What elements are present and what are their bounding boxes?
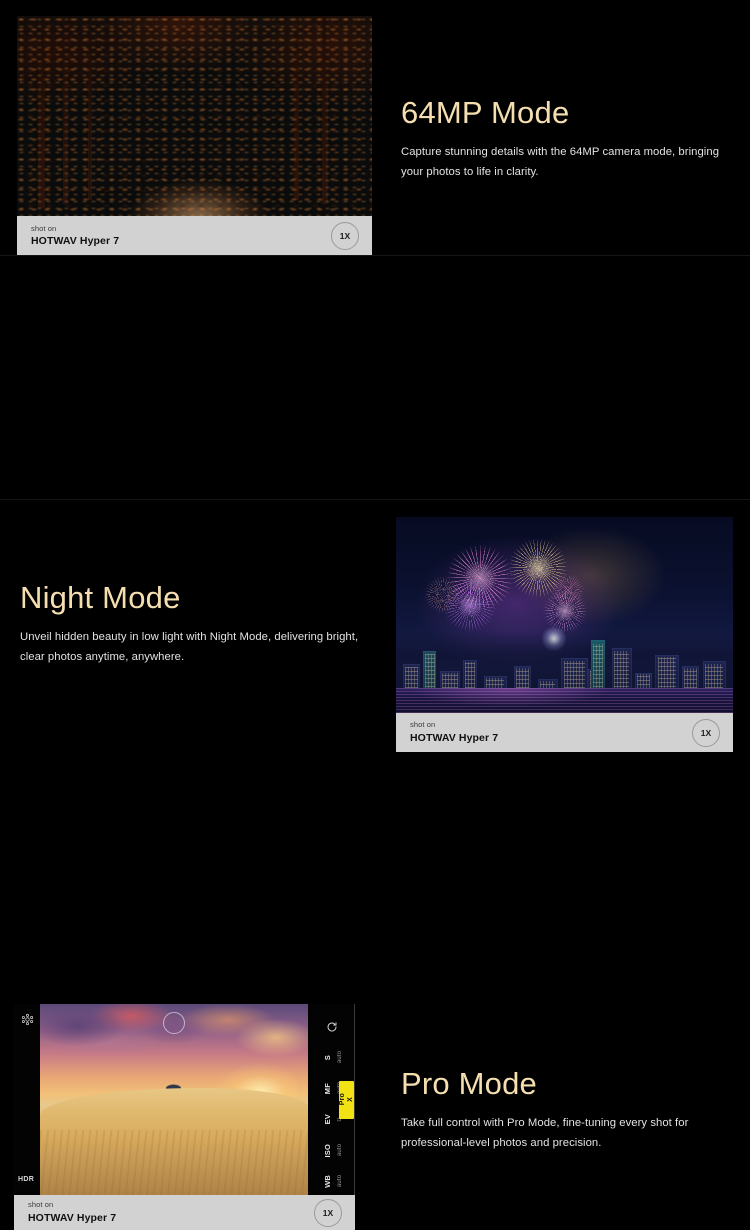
pro-control-label: ISO bbox=[323, 1144, 332, 1158]
pro-control-label: WB bbox=[323, 1175, 332, 1188]
photo-card-pro: HDR S auto bbox=[14, 1004, 355, 1230]
pro-control-value: auto bbox=[337, 1144, 343, 1156]
camera-viewfinder bbox=[40, 1004, 308, 1195]
caption-text-group: shot on HOTWAV Hyper 7 bbox=[28, 1201, 116, 1223]
caption-text-group: shot on HOTWAV Hyper 7 bbox=[31, 225, 119, 247]
section-pro: HDR S auto bbox=[0, 500, 750, 750]
reset-refresh-icon[interactable] bbox=[326, 1020, 338, 1032]
focus-ring-indicator[interactable] bbox=[163, 1012, 185, 1034]
zoom-level-badge: 1X bbox=[314, 1199, 342, 1227]
pro-control-value: auto bbox=[337, 1175, 343, 1187]
photo-card-64mp: shot on HOTWAV Hyper 7 1X bbox=[17, 16, 372, 256]
photo-desert-sunset: HDR S auto bbox=[14, 1004, 355, 1195]
section-night: Night Mode Unveil hidden beauty in low l… bbox=[0, 256, 750, 500]
pro-control-shutter[interactable]: S auto bbox=[308, 1042, 355, 1073]
caption-shot-on-label: shot on bbox=[28, 1201, 116, 1210]
pro-mode-badge[interactable]: Pro X bbox=[339, 1081, 354, 1119]
mode-description-64mp: Capture stunning details with the 64MP c… bbox=[401, 143, 731, 182]
pro-control-iso[interactable]: ISO auto bbox=[308, 1135, 355, 1166]
section-64mp: shot on HOTWAV Hyper 7 1X 64MP Mode Capt… bbox=[0, 0, 750, 256]
pro-mode-badge-label: Pro bbox=[339, 1093, 346, 1105]
pro-control-label: S bbox=[323, 1055, 332, 1060]
mode-title-pro: Pro Mode bbox=[401, 1067, 731, 1101]
pro-control-white-balance[interactable]: WB auto bbox=[308, 1166, 355, 1195]
pro-control-value: auto bbox=[337, 1051, 343, 1063]
photo-frame-pro-camera-ui: HDR S auto bbox=[14, 1004, 355, 1195]
foliage-texture bbox=[17, 16, 372, 216]
camera-left-toolbar bbox=[14, 1004, 40, 1195]
photo-caption-bar: shot on HOTWAV Hyper 7 1X bbox=[14, 1195, 355, 1230]
pro-controls-list: S auto MF auto EV 0 ISO bbox=[308, 1042, 355, 1195]
text-block-64mp: 64MP Mode Capture stunning details with … bbox=[401, 96, 731, 182]
pro-control-label: MF bbox=[323, 1083, 332, 1094]
caption-device-model: HOTWAV Hyper 7 bbox=[31, 235, 119, 247]
settings-aperture-icon[interactable] bbox=[21, 1013, 34, 1026]
promo-page: shot on HOTWAV Hyper 7 1X 64MP Mode Capt… bbox=[0, 0, 750, 750]
caption-shot-on-label: shot on bbox=[31, 225, 119, 234]
caption-device-model: HOTWAV Hyper 7 bbox=[28, 1212, 116, 1224]
mode-title-64mp: 64MP Mode bbox=[401, 96, 731, 130]
mode-description-pro: Take full control with Pro Mode, fine-tu… bbox=[401, 1114, 731, 1153]
pro-mode-badge-close[interactable]: X bbox=[347, 1097, 354, 1102]
photo-frame-autumn-forest bbox=[17, 16, 372, 216]
pro-control-label: EV bbox=[323, 1114, 332, 1124]
photo-autumn-bamboo-forest bbox=[17, 16, 372, 216]
hdr-indicator[interactable]: HDR bbox=[18, 1176, 34, 1183]
text-block-pro: Pro Mode Take full control with Pro Mode… bbox=[401, 1067, 731, 1153]
photo-caption-bar: shot on HOTWAV Hyper 7 1X bbox=[17, 216, 372, 256]
zoom-level-badge: 1X bbox=[331, 222, 359, 250]
